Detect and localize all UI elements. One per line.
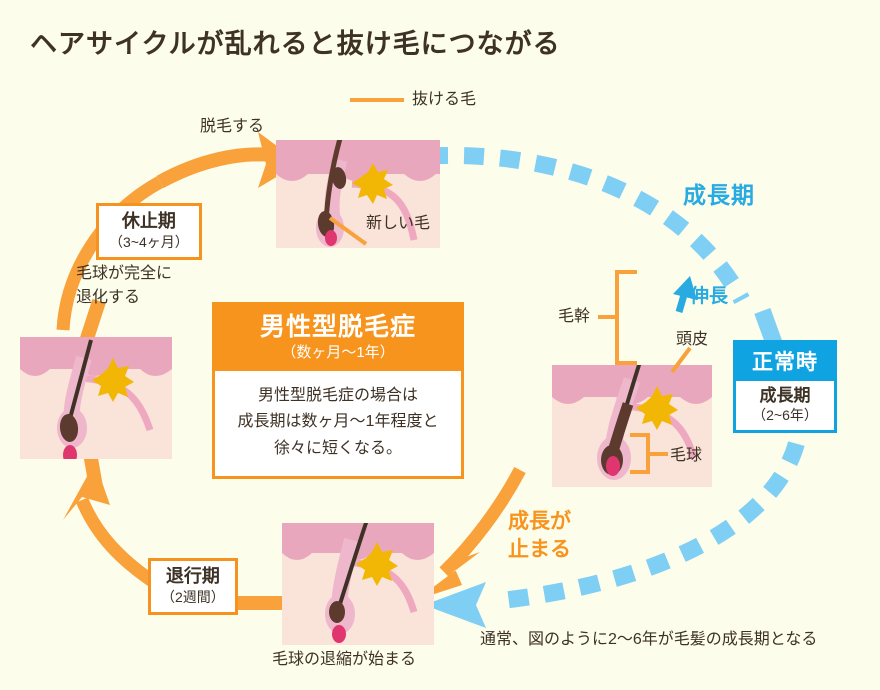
phase-catagen-name: 退行期	[161, 565, 225, 588]
label-elongation: 伸長	[690, 281, 728, 308]
label-falling-hair: 抜ける毛	[412, 88, 476, 111]
caption-catagen: 毛球の退縮が始まる	[272, 648, 416, 671]
normal-state-panel[interactable]: 正常時 成長期 （2~6年）	[733, 340, 837, 433]
androgenetic-alopecia-panel[interactable]: 男性型脱毛症 （数ヶ月〜1年） 男性型脱毛症の場合は成長期は数ヶ月〜1年程度と徐…	[212, 302, 464, 479]
label-shedding: 脱毛する	[200, 115, 264, 138]
panel-subtitle: （数ヶ月〜1年）	[215, 342, 461, 371]
caption-telogen: 毛球が完全に退化する	[76, 262, 172, 310]
label-hair-bulb: 毛球	[670, 444, 702, 467]
arrow-catagen-to-telogen	[63, 462, 158, 585]
label-new-hair: 新しい毛	[366, 212, 430, 235]
label-growth-stops: 成長が止まる	[508, 508, 571, 565]
blue-panel-phase: 成長期	[738, 385, 832, 406]
skin-diagram-telogen	[20, 337, 172, 465]
label-scalp: 頭皮	[676, 328, 708, 351]
panel-title: 男性型脱毛症	[215, 305, 461, 342]
phase-box-telogen[interactable]: 休止期 （3~4ヶ月）	[96, 203, 202, 260]
label-anagen-phase: 成長期	[683, 176, 755, 210]
panel-body: 男性型脱毛症の場合は成長期は数ヶ月〜1年程度と徐々に短くなる。	[215, 371, 461, 476]
blue-panel-body: 成長期 （2~6年）	[736, 381, 834, 430]
bracket-hair-shaft	[617, 272, 637, 363]
phase-catagen-duration: （2週間）	[161, 588, 225, 606]
phase-telogen-duration: （3~4ヶ月）	[109, 233, 189, 251]
phase-telogen-name: 休止期	[109, 210, 189, 233]
bottom-note: 通常、図のように2〜6年が毛髪の成長期となる	[480, 628, 817, 651]
skin-diagram-catagen	[282, 505, 434, 645]
page-title: ヘアサイクルが乱れると抜け毛につながる	[30, 22, 561, 61]
label-hair-shaft: 毛幹	[558, 305, 590, 328]
blue-panel-duration: （2~6年）	[738, 406, 832, 424]
blue-panel-title: 正常時	[736, 343, 834, 381]
phase-box-catagen[interactable]: 退行期 （2週間）	[148, 558, 238, 615]
